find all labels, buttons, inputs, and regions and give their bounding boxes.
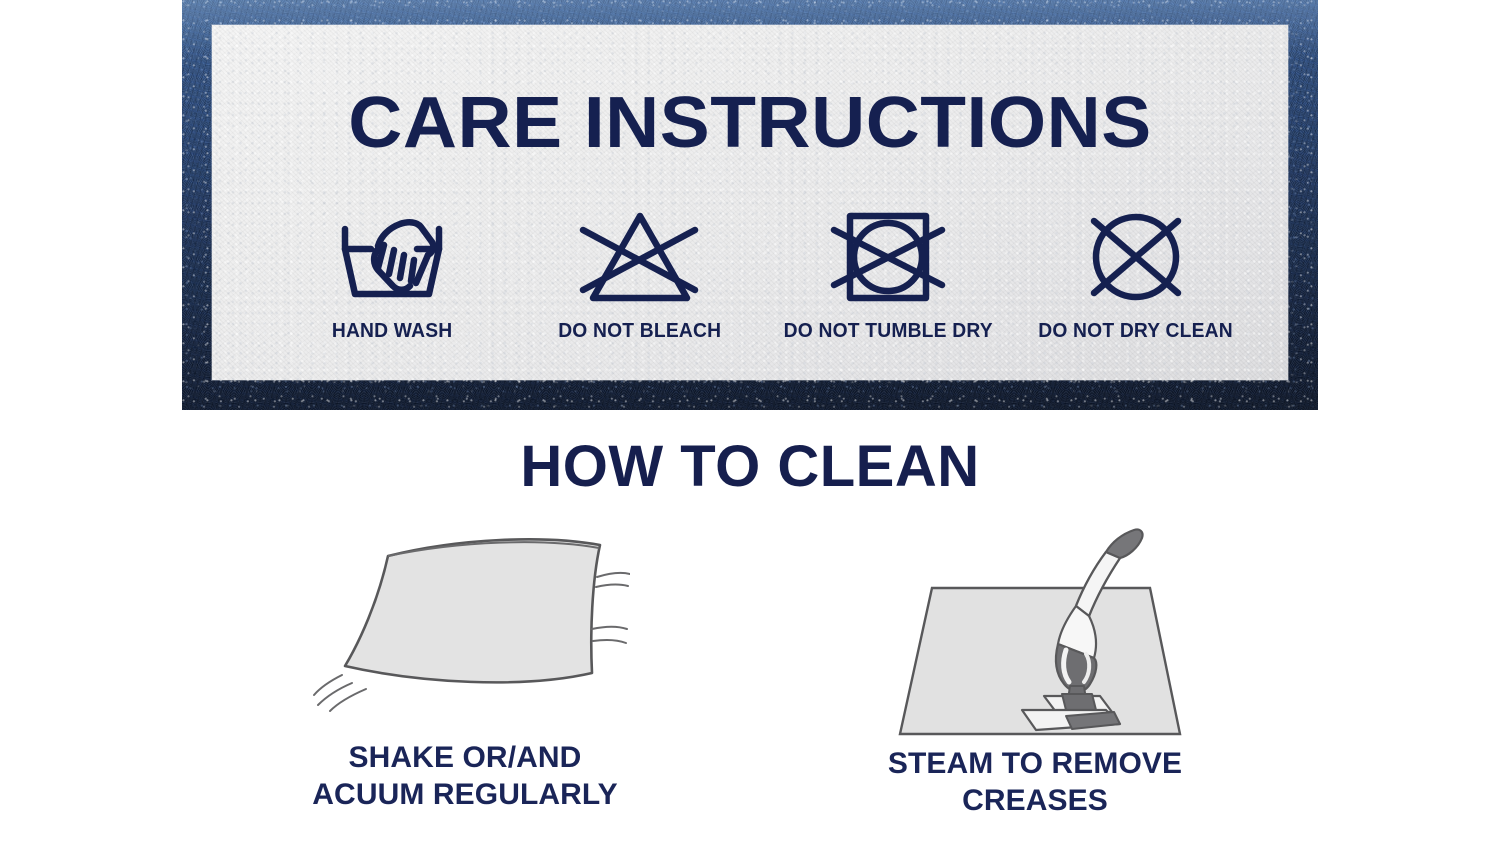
care-symbol-do-not-bleach: DO NOT BLEACH [540,205,740,343]
caption-line-2: CREASES [888,782,1182,819]
do-not-tumble-dry-icon [824,205,952,310]
care-symbol-label: DO NOT DRY CLEAN [1039,319,1234,343]
do-not-dry-clean-icon [1072,205,1200,310]
caption-line-1: SHAKE OR/AND [312,739,617,776]
how-to-step-steam: STEAM TO REMOVE CREASES [820,510,1250,819]
how-to-step-shake: SHAKE OR/AND ACUUM REGULARLY [250,510,680,813]
how-to-clean-title: HOW TO CLEAN [0,438,1500,496]
steam-mop-on-rug-icon [870,510,1200,745]
how-to-step-caption: STEAM TO REMOVE CREASES [888,745,1182,819]
care-label-panel: CARE INSTRUCTIONS [212,25,1288,380]
how-to-clean-steps: SHAKE OR/AND ACUUM REGULARLY [180,510,1320,830]
caption-line-2: ACUUM REGULARLY [312,776,617,813]
care-symbol-label: DO NOT TUMBLE DRY [783,319,992,343]
care-symbol-label: DO NOT BLEACH [558,319,721,343]
care-instructions-banner: CARE INSTRUCTIONS [182,0,1318,410]
caption-line-1: STEAM TO REMOVE [888,745,1182,782]
care-instructions-title: CARE INSTRUCTIONS [190,87,1309,159]
shaken-rug-icon [300,510,630,735]
hand-wash-icon [331,205,453,310]
care-symbol-do-not-tumble-dry: DO NOT TUMBLE DRY [788,205,988,343]
care-symbol-row: HAND WASH DO NOT BLEACH [292,205,1236,343]
care-symbol-label: HAND WASH [332,319,453,343]
care-symbol-hand-wash: HAND WASH [292,205,492,343]
care-symbol-do-not-dry-clean: DO NOT DRY CLEAN [1036,205,1236,343]
how-to-step-caption: SHAKE OR/AND ACUUM REGULARLY [312,739,617,813]
do-not-bleach-icon [569,205,711,310]
